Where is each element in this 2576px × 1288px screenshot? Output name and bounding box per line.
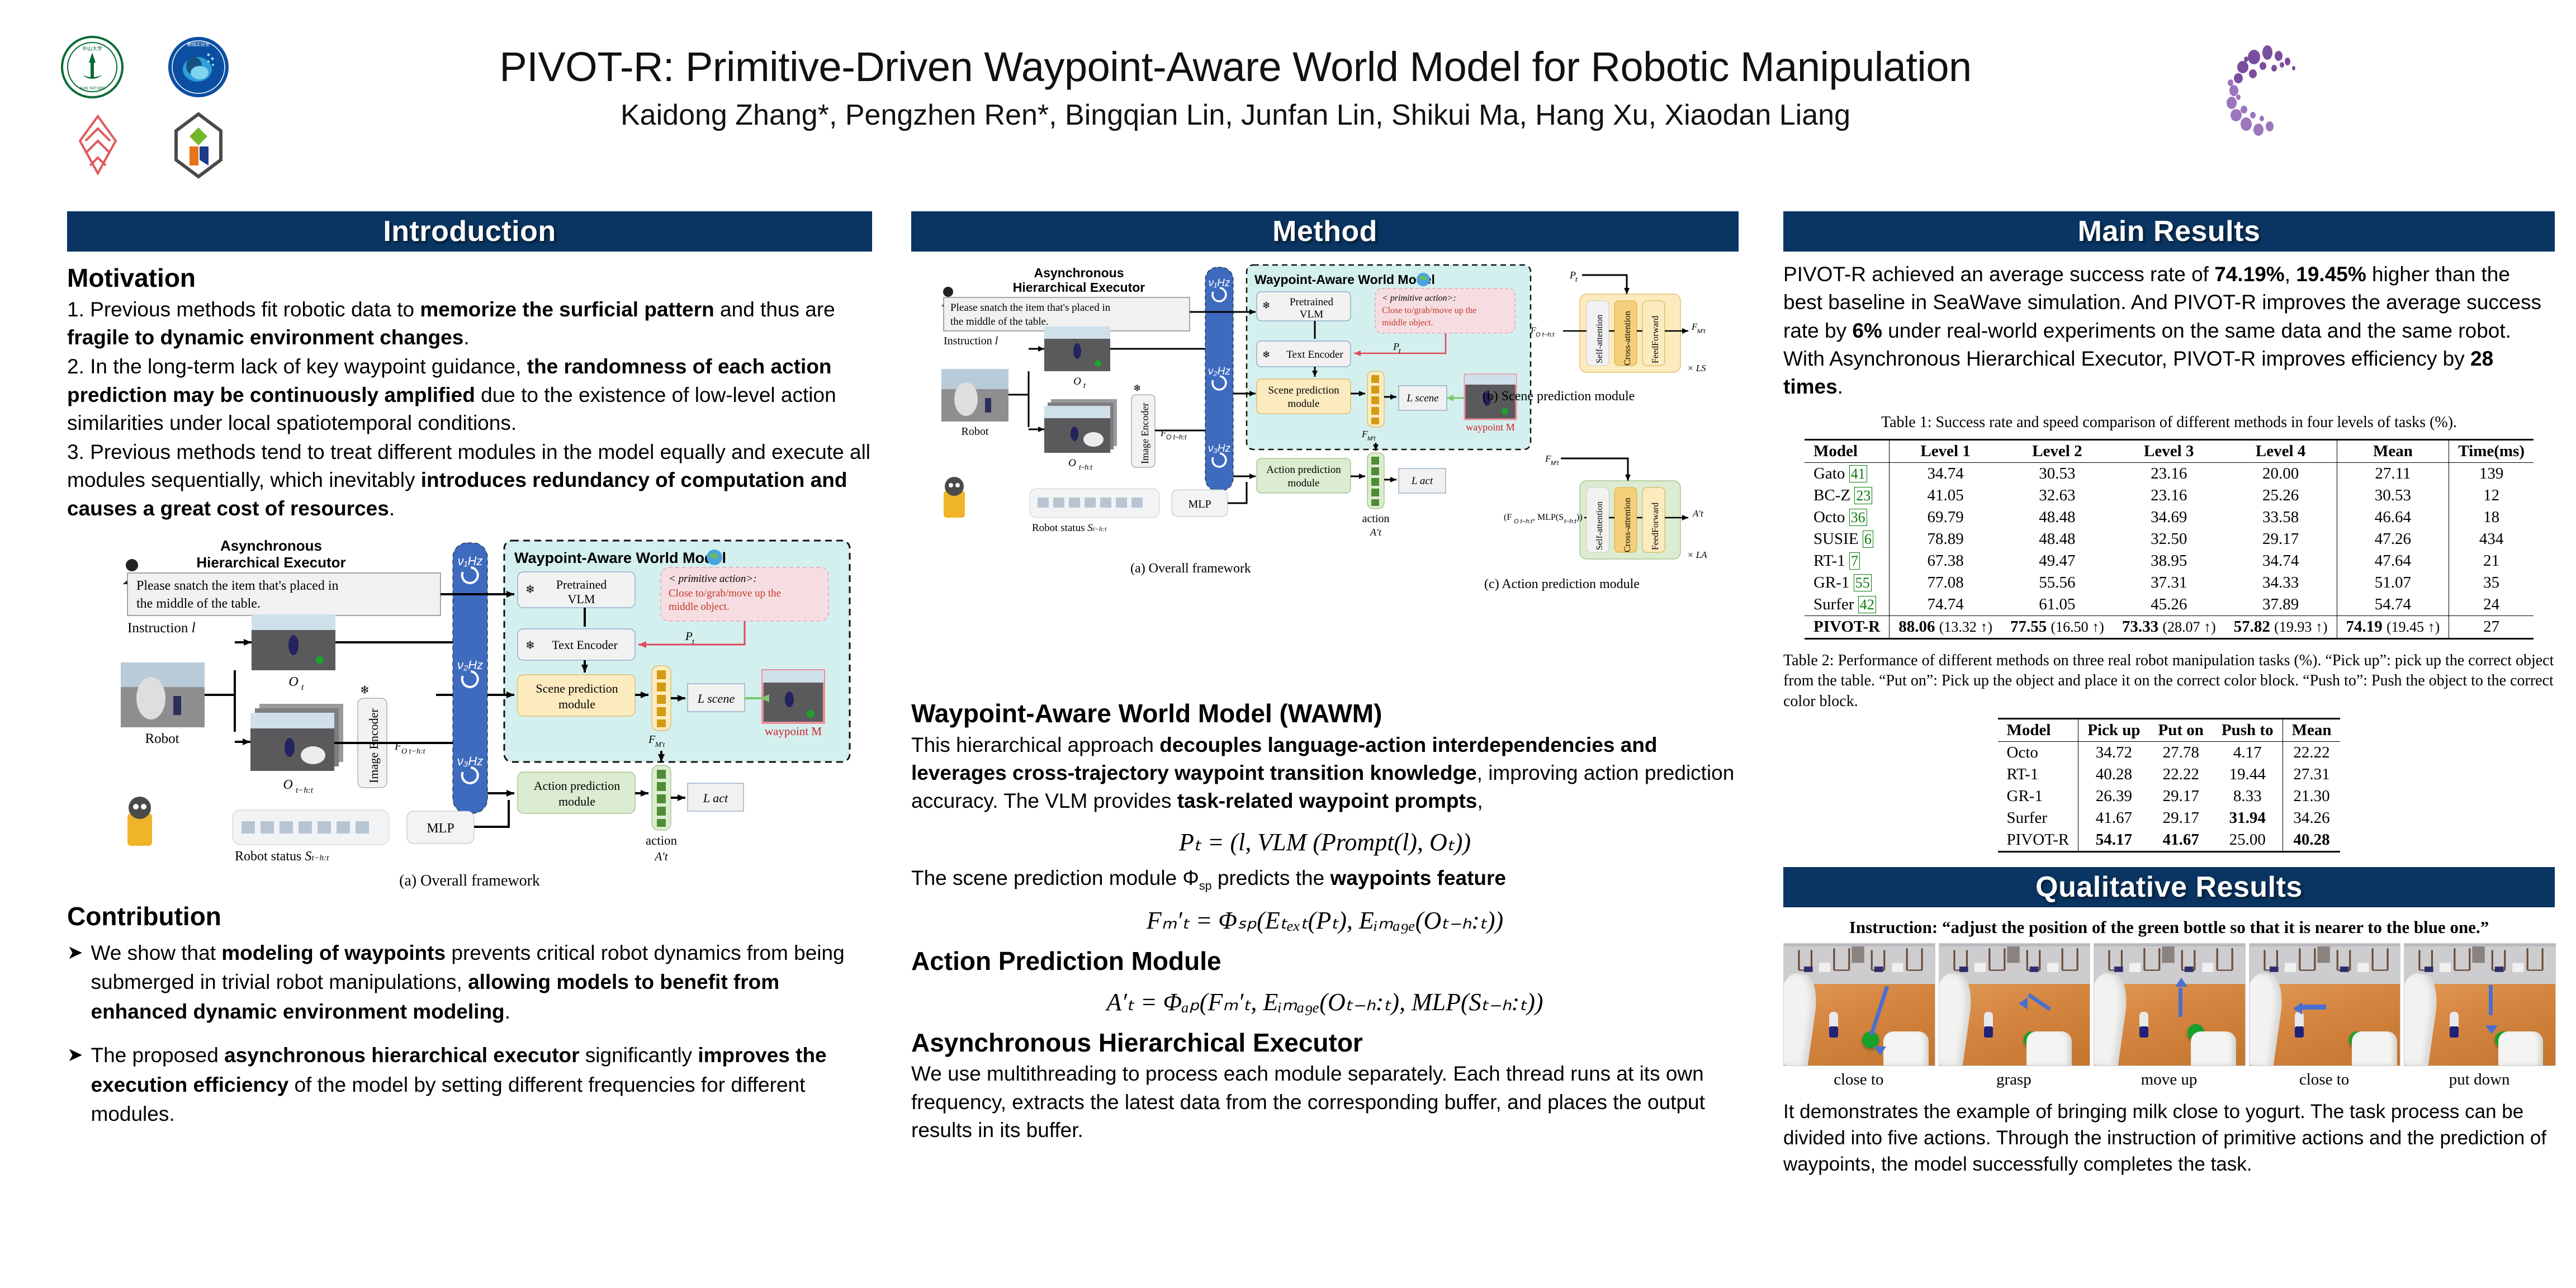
svg-text:Hierarchical Executor: Hierarchical Executor [196,554,345,571]
svg-text:module: module [1288,398,1320,410]
table2-cell-value: 25.00 [2213,829,2283,852]
table1-cell-model: SUSIE 6 [1805,528,1890,550]
m1-part-b: memorize the surficial pattern [420,298,714,321]
qualitative-frame-strip: close tograspmove upclose toput down [1783,943,2555,1089]
table-row: PIVOT-R54.1741.6725.0040.28 [1998,829,2341,852]
svg-text:L scene: L scene [1406,392,1438,404]
table2-cell-model: GR-1 [1998,785,2078,807]
c2-part-c: significantly [580,1044,698,1067]
table1-cell-value: 20.00 [2225,462,2337,485]
method-figure: Asynchronous Hierarchical Executor Pleas… [911,259,1739,687]
m1-part-d: fragile to dynamic environment changes [67,326,463,349]
table1-cell-value: 45.26 [2113,594,2225,616]
table1-cell-ours: 57.82 (19.93 ↑) [2225,615,2337,638]
svg-text:Asynchronous: Asynchronous [220,537,322,554]
svg-text:Action prediction: Action prediction [534,779,621,793]
rs-i: . [1838,375,1843,398]
table1-cell-value: 33.58 [2225,506,2337,528]
citation-ref[interactable]: 7 [1849,552,1860,570]
svg-text:)): )) [1576,513,1583,522]
table2-cell-value: 22.22 [2283,742,2340,764]
table1-cell-value: 38.95 [2113,550,2225,572]
table1-cell-value: 69.79 [1890,506,2001,528]
qualitative-frame: close to [2249,943,2400,1089]
table1-header-row: Model Level 1 Level 2 Level 3 Level 4 Me… [1805,439,2534,462]
t1-col-l3: Level 3 [2113,439,2225,462]
svg-text:O: O [283,778,292,792]
partner-hex-logo-icon [151,112,246,179]
svg-text:❄: ❄ [1133,383,1141,394]
rs-g: under real-world experiments on the same… [1783,319,2511,370]
wawm-heading: Waypoint-Aware World Model (WAWM) [911,699,1739,728]
table2-cell-value: 31.94 [2213,807,2283,829]
table2-cell-value: 40.28 [2283,829,2340,852]
svg-text:Pretrained: Pretrained [556,577,607,591]
table1-cell-value: 32.50 [2113,528,2225,550]
blue-bottle [1829,1012,1838,1038]
table2-cell-value: 41.67 [2149,829,2213,852]
page-title: PIVOT-R: Primitive-Driven Waypoint-Aware… [313,45,2158,89]
qualitative-frame: close to [1783,943,1934,1089]
table1-cell-value: 37.31 [2113,572,2225,594]
table1-cell-value: 23.16 [2113,485,2225,506]
table1-cell-value: 12 [2449,485,2534,506]
table1-body: Gato 4134.7430.5323.1620.0027.11139BC-Z … [1805,462,2534,638]
table1-cell-model: Octo 36 [1805,506,1890,528]
table1-cell-value: 27.11 [2337,462,2449,485]
section-title-introduction: Introduction [383,215,556,248]
section-title-main-results: Main Results [2078,215,2261,248]
qualitative-instruction: Instruction: “adjust the position of the… [1783,917,2555,937]
table2-cell-value: 54.17 [2078,829,2149,852]
table1-cell-value: 77.08 [1890,572,2001,594]
ahe-body: We use multithreading to process each mo… [911,1060,1739,1144]
svg-text:module: module [558,697,595,711]
svg-text:middle object.: middle object. [669,601,730,613]
table1-cell-model: BC-Z 23 [1805,485,1890,506]
motivation-item-2: 2. In the long-term lack of key waypoint… [67,353,872,437]
svg-text:ν₃Hz: ν₃Hz [457,754,484,768]
citation-ref[interactable]: 42 [1858,596,1876,613]
section-header-main-results: Main Results [1783,211,2555,252]
table-row: RT-1 767.3849.4738.9534.7447.6421 [1805,550,2534,572]
motion-arrow-head-icon [1874,1046,1886,1055]
rs-b: 74.19% [2214,263,2285,286]
citation-ref[interactable]: 36 [1849,509,1867,526]
m3-part-c: . [389,497,395,520]
svg-text:Close to/grab/move up the: Close to/grab/move up the [1382,306,1476,315]
table1-cell-ours: 88.06 (13.32 ↑) [1890,615,2001,638]
table2-header-row: Model Pick up Put on Push to Mean [1998,719,2341,742]
svg-text:O: O [288,675,298,689]
table2-cell-value: 4.17 [2213,742,2283,764]
scene-line-a: The scene prediction module Φ [911,866,1199,889]
svg-text:FeedForward: FeedForward [1651,316,1660,363]
section-title-qualitative-results: Qualitative Results [2035,870,2303,904]
c1-part-a: We show that [91,941,222,964]
svg-text:(c) Action prediction module: (c) Action prediction module [1484,577,1640,591]
table1-cell-value: 21 [2449,550,2534,572]
table1-cell-value: 34.33 [2225,572,2337,594]
c1-part-b: modeling of waypoints [221,941,446,964]
svg-text:Cross-attention: Cross-attention [1623,311,1632,366]
table1-caption: Table 1: Success rate and speed comparis… [1783,413,2555,433]
table1-cell-value: 23.16 [2113,462,2225,485]
motion-arrow-icon [2300,1005,2326,1010]
table-row: Octo34.7227.784.1722.22 [1998,742,2341,764]
table1-cell-value: 29.17 [2225,528,2337,550]
table2-caption: Table 2: Performance of different method… [1783,651,2555,713]
svg-text:O t−h:t: O t−h:t [1536,332,1555,338]
neurips-logo: NEURAL INFORMATION PROCESSING SYSTEMS [2214,44,2549,155]
svg-text:middle object.: middle object. [1382,318,1433,328]
svg-text:(a) Overall framework: (a) Overall framework [1130,561,1251,576]
neurips-swirl-icon [2214,44,2326,150]
bullet-arrow-icon-2: ➤ [67,1041,83,1129]
wawm-part-a: This hierarchical approach [911,733,1159,756]
contribution-1-text: We show that modeling of waypoints preve… [91,939,873,1027]
svg-text:M′t: M′t [1367,435,1376,442]
table2-cell-value: 41.67 [2078,807,2149,829]
svg-text:ν₂Hz: ν₂Hz [457,658,483,672]
svg-text:L act: L act [1411,475,1433,487]
table-row: Gato 4134.7430.5323.1620.0027.11139 [1805,462,2534,485]
svg-text:VLM: VLM [1300,309,1323,320]
qualitative-frame: move up [2094,943,2244,1089]
qualitative-description: It demonstrates the example of bringing … [1783,1099,2555,1178]
table1-cell-value: 51.07 [2337,572,2449,594]
svg-text:Scene prediction: Scene prediction [536,681,618,695]
svg-text:< primitive action>:: < primitive action>: [669,573,757,585]
table1-cell-ours: 77.55 (16.50 ↑) [2001,615,2113,638]
table-row: Octo 3669.7948.4834.6933.5846.6418 [1805,506,2534,528]
svg-text:(b) Scene prediction module: (b) Scene prediction module [1483,389,1635,404]
table2-cell-value: 29.17 [2149,785,2213,807]
svg-text:L act: L act [703,791,728,805]
m1-part-e: . [463,326,469,349]
motion-arrow-head-icon [2019,997,2028,1010]
qualitative-frame-image [2094,943,2246,1066]
table1-cell-model: Gato 41 [1805,462,1890,485]
c2-part-a: The proposed [91,1044,225,1067]
motion-arrow-head-icon [2293,1002,2302,1015]
pengcheng-lab-logo-icon: 鹏城实验室 [151,34,246,101]
qualitative-frame-caption: close to [1783,1071,1934,1089]
table1-cell-value: 74.74 [1890,594,2001,616]
table1-cell-value: 48.48 [2001,506,2113,528]
table1-cell-ours: 74.19 (19.45 ↑) [2337,615,2449,638]
motivation-item-1: 1. Previous methods fit robotic data to … [67,296,872,352]
table1-cell-value: 30.53 [2001,462,2113,485]
table1-cell-ours: 73.33 (28.07 ↑) [2113,615,2225,638]
equation-2: Fₘ′ₜ = Φₛₚ(Eₜₑₓₜ(Pₜ), Eᵢₘₐ₉ₑ(Oₜ₋ₕ:ₜ)) [911,906,1739,935]
qualitative-frame-image [2404,943,2556,1066]
citation-ref[interactable]: 6 [1863,531,1873,548]
table-row: RT-140.2822.2219.4427.31 [1998,764,2341,785]
table1-cell-value: 34.74 [1890,462,2001,485]
table1-cell-model: RT-1 7 [1805,550,1890,572]
motivation-item-3: 3. Previous methods tend to treat differ… [67,438,872,523]
svg-text:Instruction l: Instruction l [944,335,998,347]
svg-text:the middle of the table.: the middle of the table. [136,596,261,611]
table1-cell-model: GR-1 55 [1805,572,1890,594]
citation-ref[interactable]: 55 [1854,574,1872,591]
table2-cell-value: 27.78 [2149,742,2213,764]
svg-text:< primitive action>:: < primitive action>: [1382,293,1456,303]
svg-text:O t−h:t: O t−h:t [401,747,426,756]
blue-bottle [2139,1012,2148,1038]
svg-text:中山大学: 中山大学 [82,45,102,52]
table1-cell-value: 30.53 [2337,485,2449,506]
apm-heading: Action Prediction Module [911,947,1739,976]
svg-text:Scene prediction: Scene prediction [1268,385,1339,396]
citation-ref[interactable]: 23 [1854,487,1872,504]
svg-text:Text Encoder: Text Encoder [552,638,618,652]
table1-cell-value: 34.74 [2225,550,2337,572]
equation-1: Pₜ = (l, VLM (Prompt(l), Oₜ)) [911,828,1739,856]
svg-text:A′t: A′t [1370,527,1382,538]
svg-text:action: action [1362,513,1390,525]
rs-d: 19.45% [2296,263,2366,286]
wawm-part-d: The VLM provides [998,789,1177,812]
wawm-part-f: , [1477,789,1483,812]
motivation-body: 1. Previous methods fit robotic data to … [67,296,872,523]
table2: Model Pick up Put on Push to Mean Octo34… [1998,718,2341,853]
svg-text:❄: ❄ [1262,300,1270,311]
contribution-bullet-2: ➤ The proposed asynchronous hierarchical… [67,1041,872,1129]
table2-cell-value: 22.22 [2149,764,2213,785]
svg-text:ν₁Hz: ν₁Hz [458,554,483,568]
blue-bottle [2295,1012,2304,1038]
svg-text:t−h:t: t−h:t [296,786,314,795]
section-title-method: Method [1272,215,1377,248]
table1-cell-value: 67.38 [1890,550,2001,572]
table1-cell-value: 46.64 [2337,506,2449,528]
t1-col-model: Model [1805,439,1890,462]
method-diagram-svg: Asynchronous Hierarchical Executor Pleas… [911,259,1739,684]
t2-col-pick: Pick up [2078,719,2149,742]
table2-cell-model: PIVOT-R [1998,829,2078,852]
author-list: Kaidong Zhang*, Pengzhen Ren*, Bingqian … [313,98,2158,132]
table1-cell-value: 41.05 [1890,485,2001,506]
table1-cell-value: 139 [2449,462,2534,485]
svg-text:ν₂Hz: ν₂Hz [1208,366,1230,377]
svg-text:O: O [1073,376,1081,387]
bullet-arrow-icon: ➤ [67,939,83,1027]
table-row: GR-126.3929.178.3321.30 [1998,785,2341,807]
svg-text:Instruction l: Instruction l [127,621,196,636]
qualitative-frame: put down [2404,943,2555,1089]
robot-gripper [2498,1031,2544,1066]
table1-cell-model: Surfer 42 [1805,594,1890,616]
svg-text:F: F [648,733,656,746]
m2-part-a: 2. In the long-term lack of key waypoint… [67,355,527,378]
svg-text:SUN YAT-SEN: SUN YAT-SEN [79,86,105,91]
rs-c: , [2285,263,2296,286]
svg-text:Robot: Robot [145,731,179,746]
svg-text:ν₃Hz: ν₃Hz [1208,443,1231,454]
svg-text:❄: ❄ [1262,349,1270,360]
svg-text:waypoint M: waypoint M [1466,422,1515,433]
table-row: Surfer 4274.7461.0545.2637.8954.7424 [1805,594,2534,616]
table2-body: Octo34.7227.784.1722.22RT-140.2822.2219.… [1998,742,2341,852]
motion-arrow-icon [2489,985,2493,1015]
svg-text:waypoint M: waypoint M [765,724,822,738]
robot-gripper [2026,1031,2072,1066]
c1-part-e: . [505,1000,510,1023]
svg-text:❄: ❄ [525,640,535,652]
svg-text:MLP: MLP [1188,498,1211,510]
svg-text:Robot: Robot [962,425,989,438]
poster-root: 中山大学 SUN YAT-SEN 鹏城实验室 [0,0,2576,1288]
t1-col-l4: Level 4 [2225,439,2337,462]
table2-cell-value: 8.33 [2213,785,2283,807]
table2-cell-value: 21.30 [2283,785,2340,807]
table1-cell-value: 49.47 [2001,550,2113,572]
partner-red-logo-icon [50,112,145,179]
table2-cell-model: RT-1 [1998,764,2078,785]
qualitative-frame-caption: move up [2094,1071,2244,1089]
svg-text:M′t: M′t [1551,460,1559,467]
contribution-2-text: The proposed asynchronous hierarchical e… [91,1041,873,1129]
qualitative-frame: grasp [1939,943,2090,1089]
table1-cell-value: 35 [2449,572,2534,594]
table2-cell-value: 19.44 [2213,764,2283,785]
wawm-body: This hierarchical approach decouples lan… [911,731,1739,816]
table1-cell-value: 47.26 [2337,528,2449,550]
overall-framework-figure: Asynchronous Hierarchical Executor Pleas… [67,531,872,890]
table2-cell-value: 34.26 [2283,807,2340,829]
table2-cell-value: 40.28 [2078,764,2149,785]
svg-text:M′t: M′t [655,740,665,749]
equation-3: A′ₜ = Φₐₚ(Fₘ′ₜ, Eᵢₘₐ₉ₑ(Oₜ₋ₕ:ₜ), MLP(Sₜ₋ₕ… [911,988,1739,1016]
blue-bottle [2450,1012,2459,1038]
qualitative-frame-image [1939,943,2091,1066]
table1-cell-ours: 27 [2449,615,2534,638]
c2-part-b: asynchronous hierarchical executor [224,1044,579,1067]
table2-cell-value: 34.72 [2078,742,2149,764]
svg-text:t: t [301,683,304,692]
t1-col-l1: Level 1 [1890,439,2001,462]
table1-cell-ours: PIVOT-R [1805,615,1890,638]
svg-text:Action prediction: Action prediction [1266,464,1341,476]
table-row: GR-1 5577.0855.5637.3134.3351.0735 [1805,572,2534,594]
table1-cell-value: 18 [2449,506,2534,528]
svg-text:Please snatch the item that's: Please snatch the item that's placed in [136,579,339,593]
table1: Model Level 1 Level 2 Level 3 Level 4 Me… [1805,439,2534,640]
table1-cell-value: 32.63 [2001,485,2113,506]
svg-text:the middle of the table.: the middle of the table. [950,316,1049,328]
svg-text:O t−h:t: O t−h:t [1166,433,1187,441]
table2-cell-value: 27.31 [2283,764,2340,785]
m1-part-a: 1. Previous methods fit robotic data to [67,298,420,321]
robot-gripper [2352,1031,2397,1066]
table-row: BC-Z 2341.0532.6323.1625.2630.5312 [1805,485,2534,506]
t2-col-model: Model [1998,719,2078,742]
qualitative-frame-caption: put down [2404,1071,2555,1089]
svg-text:Self-attention: Self-attention [1595,501,1604,550]
column-introduction: Introduction Motivation 1. Previous meth… [67,211,872,1144]
scene-line-sub: sp [1199,879,1212,892]
svg-text:O: O [1068,457,1076,469]
svg-text:module: module [558,794,595,808]
table1-cell-value: 54.74 [2337,594,2449,616]
svg-text:Hierarchical Executor: Hierarchical Executor [1013,280,1145,295]
svg-text:Waypoint-Aware World Model: Waypoint-Aware World Model [1254,272,1435,287]
svg-text:Pretrained: Pretrained [1290,296,1334,308]
svg-text:Cross-attention: Cross-attention [1623,498,1632,552]
wawm-part-e: task-related waypoint prompts [1177,789,1478,812]
title-block: PIVOT-R: Primitive-Driven Waypoint-Aware… [313,45,2158,132]
qualitative-frame-caption: close to [2249,1071,2400,1089]
svg-text:module: module [1288,477,1320,489]
svg-text:, MLP(S: , MLP(S [1533,513,1564,522]
table2-cell-model: Octo [1998,742,2078,764]
svg-text:MLP: MLP [427,821,454,836]
t1-col-l2: Level 2 [2001,439,2113,462]
rs-a: PIVOT-R achieved an average success rate… [1783,263,2214,286]
svg-text:t−h:t: t−h:t [1564,518,1577,525]
qualitative-frame-image [1783,943,1935,1066]
svg-text:Waypoint-Aware World Model: Waypoint-Aware World Model [514,550,726,566]
table1-cell-value: 55.56 [2001,572,2113,594]
svg-text:× LS: × LS [1687,363,1706,373]
qualitative-frame-image [2249,943,2401,1066]
column-method: Method Asynchronous Hierarchical Executo… [911,211,1739,1144]
table1-cell-value: 47.64 [2337,550,2449,572]
scene-line-b: predicts the [1212,866,1330,889]
ahe-heading: Asynchronous Hierarchical Executor [911,1029,1739,1057]
svg-text:Close to/grab/move up the: Close to/grab/move up the [669,588,781,599]
institution-logos: 中山大学 SUN YAT-SEN 鹏城实验室 [45,34,280,179]
table1-cell-value: 37.89 [2225,594,2337,616]
table1-row-ours: PIVOT-R88.06 (13.32 ↑)77.55 (16.50 ↑)73.… [1805,615,2534,638]
section-header-introduction: Introduction [67,211,872,252]
svg-text:鹏城实验室: 鹏城实验室 [187,41,210,47]
section-header-method: Method [911,211,1739,252]
svg-text:L scene: L scene [697,692,735,705]
svg-text:ν₁Hz: ν₁Hz [1209,277,1230,289]
table1-cell-value: 78.89 [1890,528,2001,550]
svg-text:t−h:t: t−h:t [1079,463,1092,471]
blue-bottle [1984,1012,1993,1038]
svg-text:Please snatch the item that's: Please snatch the item that's placed in [950,302,1111,314]
motion-arrow-head-icon [2485,1025,2498,1034]
results-summary: PIVOT-R achieved an average success rate… [1783,261,2555,401]
svg-text:action: action [646,834,678,847]
t2-col-push: Push to [2213,719,2283,742]
svg-text:VLM: VLM [568,592,595,606]
svg-text:Image Encoder: Image Encoder [367,708,381,783]
svg-text:× LA: × LA [1687,550,1707,560]
svg-text:A′t: A′t [654,850,668,863]
table2-cell-model: Surfer [1998,807,2078,829]
robot-gripper [2191,1031,2236,1066]
rs-f: 6% [1852,319,1882,342]
svg-text:O t−h:t: O t−h:t [1514,518,1533,525]
m1-part-c: and thus are [714,298,835,321]
svg-text:Image Encoder: Image Encoder [1139,403,1150,464]
poster-header: 中山大学 SUN YAT-SEN 鹏城实验室 [0,0,2576,201]
svg-text:Asynchronous: Asynchronous [1034,266,1124,280]
motivation-heading: Motivation [67,264,872,292]
table1-cell-value: 24 [2449,594,2534,616]
table1-cell-value: 434 [2449,528,2534,550]
table1-cell-value: 61.05 [2001,594,2113,616]
citation-ref[interactable]: 41 [1849,465,1867,482]
table1-cell-value: 48.48 [2001,528,2113,550]
robot-gripper [1883,1031,1929,1066]
